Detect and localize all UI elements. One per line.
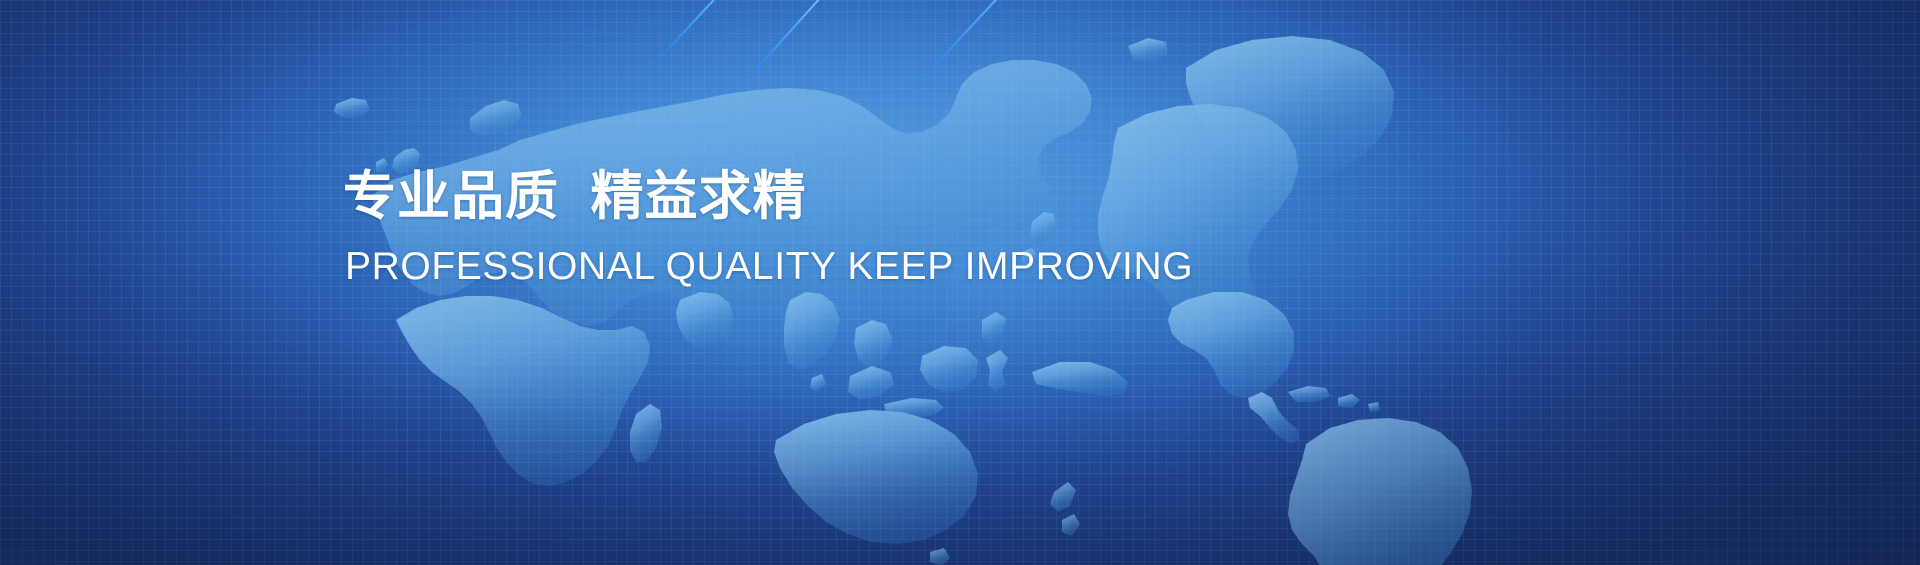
light-streak-2: [739, 0, 824, 88]
hero-banner: 专业品质 精益求精 PROFESSIONAL QUALITY KEEP IMPR…: [0, 0, 1920, 565]
light-streak-3: [909, 0, 1025, 93]
banner-subheadline-english: PROFESSIONAL QUALITY KEEP IMPROVING: [345, 247, 1243, 288]
banner-text-block: 专业品质 精益求精 PROFESSIONAL QUALITY KEEP IMPR…: [343, 168, 1243, 288]
banner-headline-chinese: 专业品质 精益求精: [343, 168, 1243, 225]
light-streak-1: [654, 0, 732, 64]
